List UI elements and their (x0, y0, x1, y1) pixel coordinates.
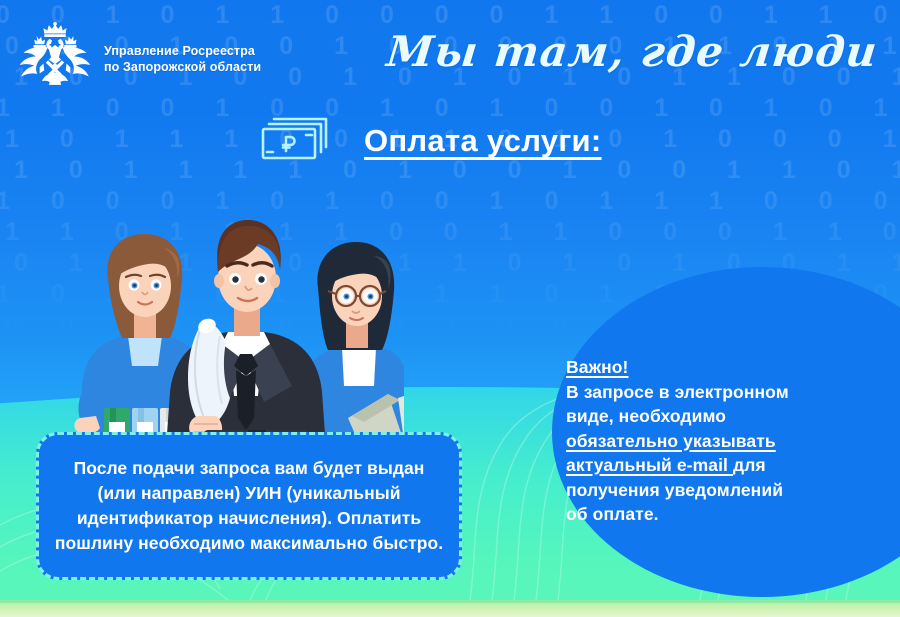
uin-info-text: После подачи запроса вам будет выдан (ил… (39, 456, 459, 556)
important-line-1: В запросе в электронном (566, 380, 856, 405)
page-title: Оплата услуги: (364, 123, 602, 159)
uin-info-box: После подачи запроса вам будет выдан (ил… (36, 432, 462, 580)
important-line-2: виде, необходимо (566, 404, 856, 429)
bottom-green-strip (0, 600, 900, 617)
slogan-text: Мы там, где люди (385, 26, 881, 78)
rosreestr-eagle-icon (16, 22, 94, 88)
important-heading: Важно! (566, 357, 628, 377)
slide-canvas: 0 0 1 0 1 1 0 0 0 0 1 1 0 0 1 1 0 00 1 0… (0, 0, 900, 617)
organization-name: Управление Росреестра по Запорожской обл… (104, 44, 261, 75)
banknotes-ruble-icon (258, 113, 332, 165)
important-note-text: Важно! В запросе в электронном виде, нео… (566, 355, 856, 527)
important-line-6: об оплате. (566, 502, 856, 527)
important-line-5: получения уведомлений (566, 478, 856, 503)
important-line-3: обязательно указывать (566, 431, 776, 451)
org-name-line-2: по Запорожской области (104, 60, 261, 76)
important-line-4-email: актуальный e-mail (566, 455, 733, 475)
org-name-line-1: Управление Росреестра (104, 44, 261, 60)
important-line-4-rest: для (733, 455, 766, 475)
